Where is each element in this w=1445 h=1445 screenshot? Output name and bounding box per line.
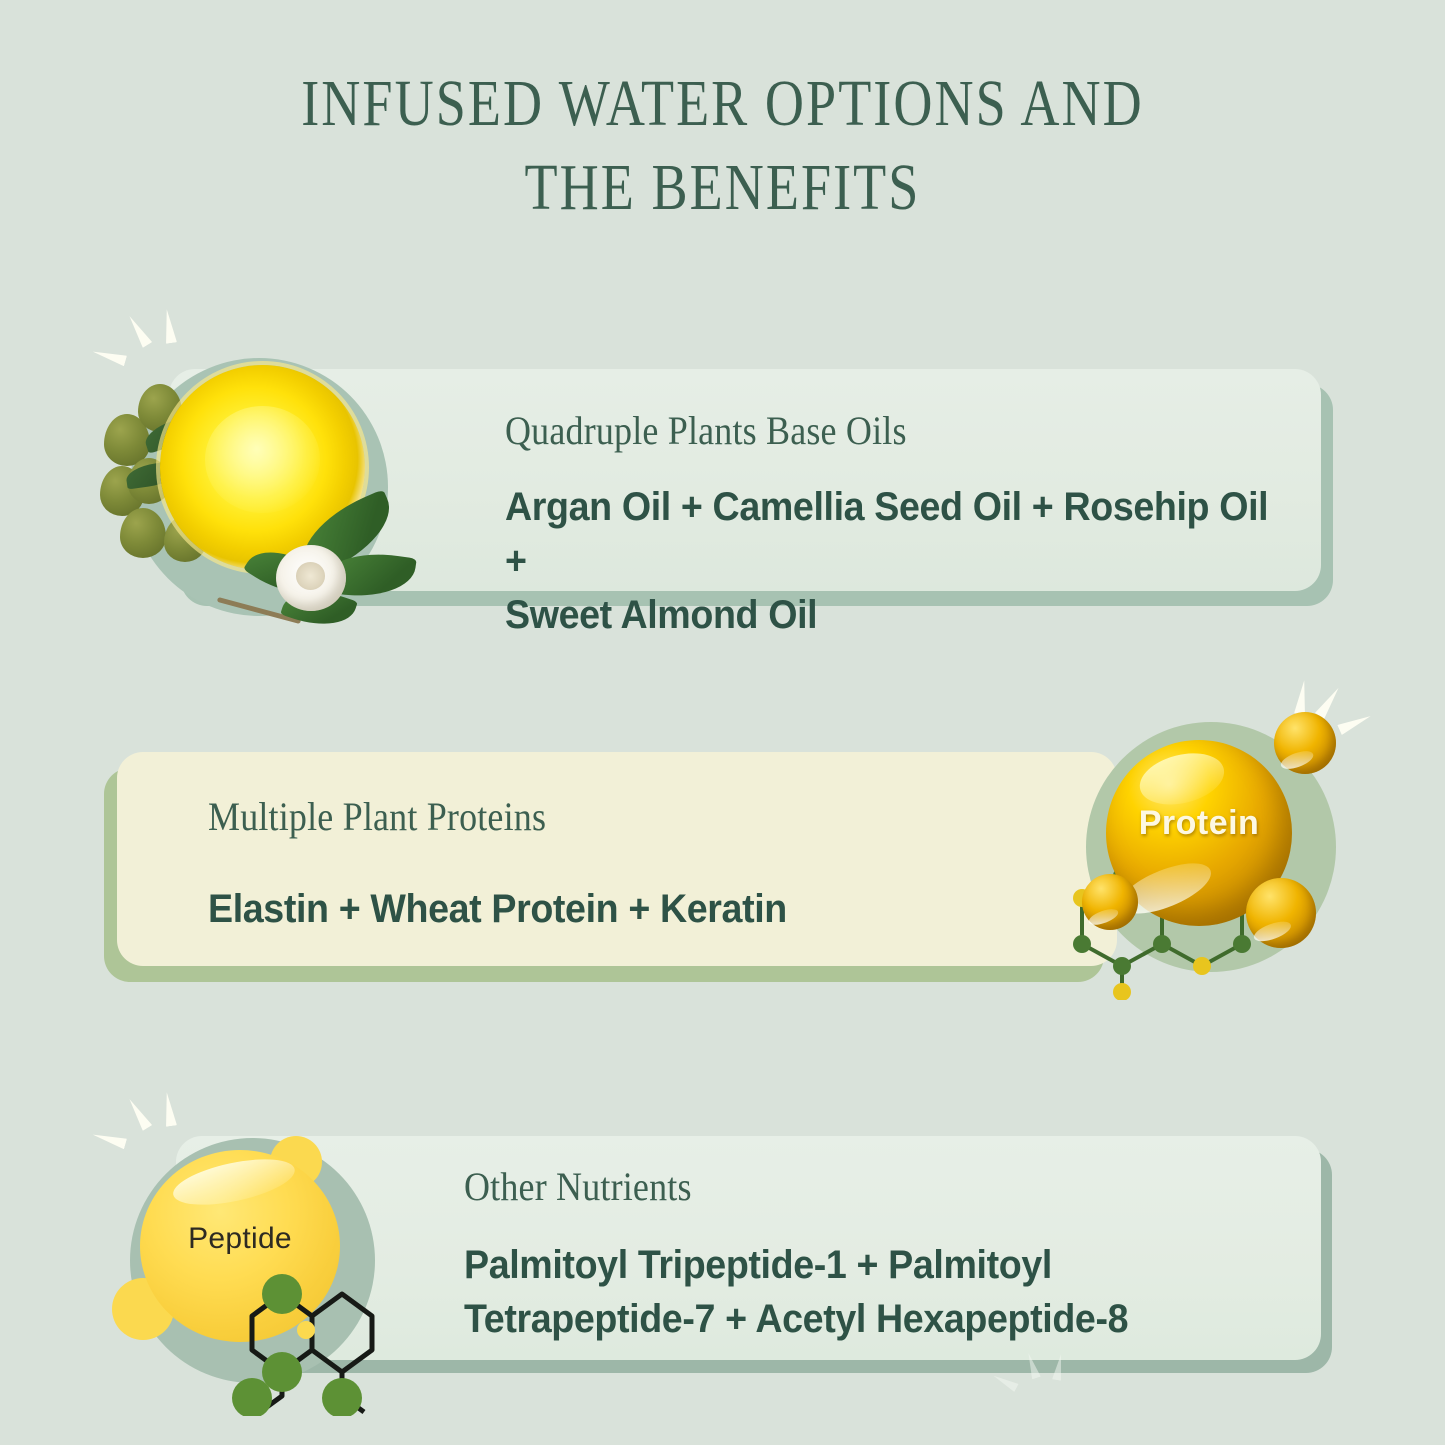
peptide-molecule-icon (230, 1266, 410, 1416)
peptide-label: Peptide (140, 1222, 340, 1256)
sparkle-ray-icon (1052, 1354, 1065, 1381)
sparkle-ray-icon (991, 1372, 1018, 1392)
card-oils-text: Quadruple Plants Base Oils Argan Oil + C… (505, 408, 1325, 642)
card-nutrients-detail-line-2: Tetrapeptide-7 + Acetyl Hexapeptide-8 (464, 1292, 1216, 1346)
card-nutrients-text: Other Nutrients Palmitoyl Tripeptide-1 +… (464, 1164, 1264, 1346)
sparkle-ray-icon (161, 309, 177, 344)
card-oils-detail-line-2: Sweet Almond Oil (505, 588, 1276, 642)
olive-icon (120, 508, 166, 558)
protein-bubble-illustration: Protein (1068, 700, 1368, 1000)
card-oils-detail-line-1: Argan Oil + Camellia Seed Oil + Rosehip … (505, 480, 1276, 588)
camellia-flower-icon (276, 545, 346, 611)
card-oils-heading: Quadruple Plants Base Oils (505, 408, 1243, 454)
protein-mini-bubble (1246, 878, 1316, 948)
page-title: INFUSED WATER OPTIONS AND THE BENEFITS (0, 62, 1445, 230)
peptide-bubble-illustration: Peptide (110, 1118, 410, 1418)
card-proteins-text: Multiple Plant Proteins Elastin + Wheat … (208, 794, 1038, 936)
protein-mini-bubble (1274, 712, 1336, 774)
card-proteins-detail-line-1: Elastin + Wheat Protein + Keratin (208, 882, 988, 936)
protein-label: Protein (1106, 804, 1292, 843)
page-title-line-2: THE BENEFITS (130, 146, 1315, 230)
sparkle-ray-icon (1024, 1352, 1041, 1380)
protein-mini-bubble (1082, 874, 1138, 930)
page-title-line-1: INFUSED WATER OPTIONS AND (130, 62, 1315, 146)
card-nutrients-detail-line-1: Palmitoyl Tripeptide-1 + Palmitoyl (464, 1238, 1216, 1292)
infographic-page: INFUSED WATER OPTIONS AND THE BENEFITS Q… (0, 0, 1445, 1445)
sparkle-decoration-card-bottom (1010, 1348, 1080, 1392)
olive-oil-bowl-illustration (98, 340, 418, 640)
card-proteins-heading: Multiple Plant Proteins (208, 794, 955, 840)
card-nutrients-heading: Other Nutrients (464, 1164, 1184, 1210)
